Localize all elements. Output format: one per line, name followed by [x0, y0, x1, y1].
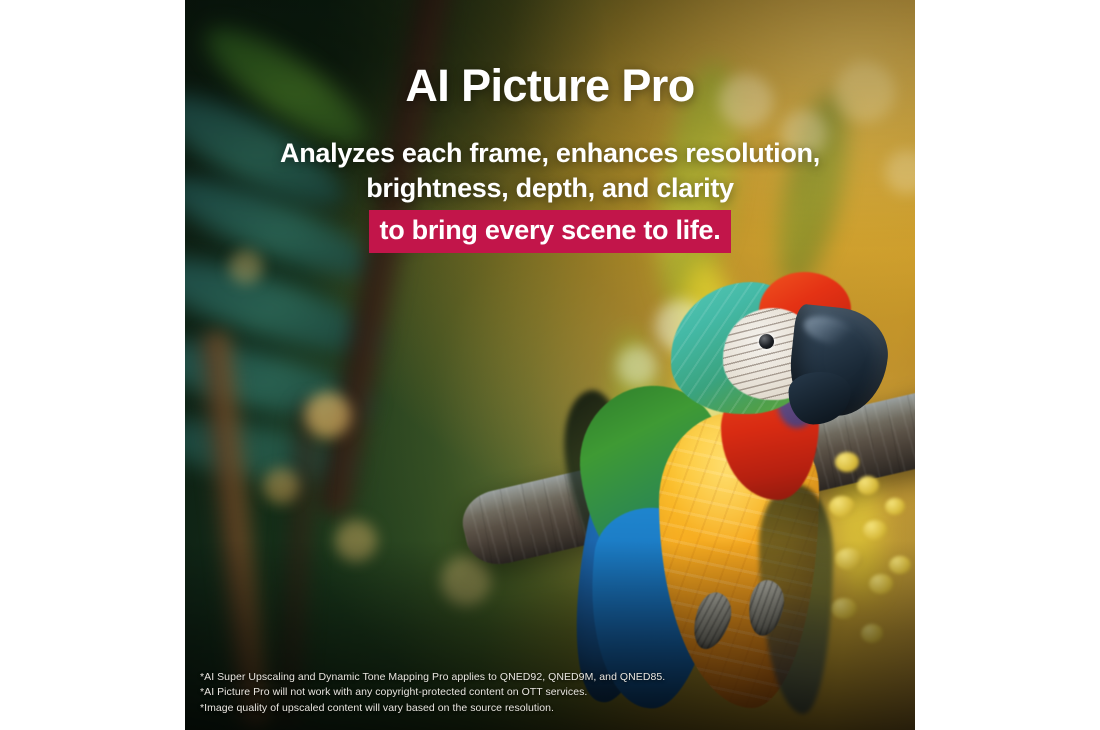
bokeh-light — [335, 520, 377, 562]
subcopy-line-1: Analyzes each frame, enhances resolution… — [0, 136, 1100, 171]
subcopy-highlight-wrap: to bring every scene to life. — [0, 210, 1100, 253]
subcopy-highlight: to bring every scene to life. — [369, 210, 732, 253]
bokeh-light — [263, 468, 299, 504]
bokeh-light — [305, 392, 351, 438]
banner-subcopy: Analyzes each frame, enhances resolution… — [0, 136, 1100, 253]
fineprint-line-2: *AI Picture Pro will not work with any c… — [200, 685, 665, 701]
bokeh-light — [441, 556, 491, 606]
macaw-parrot — [563, 262, 863, 662]
fineprint-block: *AI Super Upscaling and Dynamic Tone Map… — [200, 670, 665, 717]
fineprint-line-3: *Image quality of upscaled content will … — [200, 701, 665, 717]
berry — [863, 520, 887, 540]
berry — [869, 574, 893, 594]
parrot-eye — [759, 334, 774, 349]
fineprint-line-1: *AI Super Upscaling and Dynamic Tone Map… — [200, 670, 665, 686]
bokeh-light — [229, 250, 263, 284]
parrot-beak-lower — [787, 370, 852, 426]
berry — [889, 556, 911, 574]
banner-root: AI Picture Pro Analyzes each frame, enha… — [0, 0, 1100, 730]
banner-copy: AI Picture Pro Analyzes each frame, enha… — [0, 62, 1100, 253]
page-title: AI Picture Pro — [0, 62, 1100, 110]
subcopy-line-2: brightness, depth, and clarity — [0, 171, 1100, 206]
berry — [885, 498, 905, 515]
berry — [861, 624, 883, 643]
